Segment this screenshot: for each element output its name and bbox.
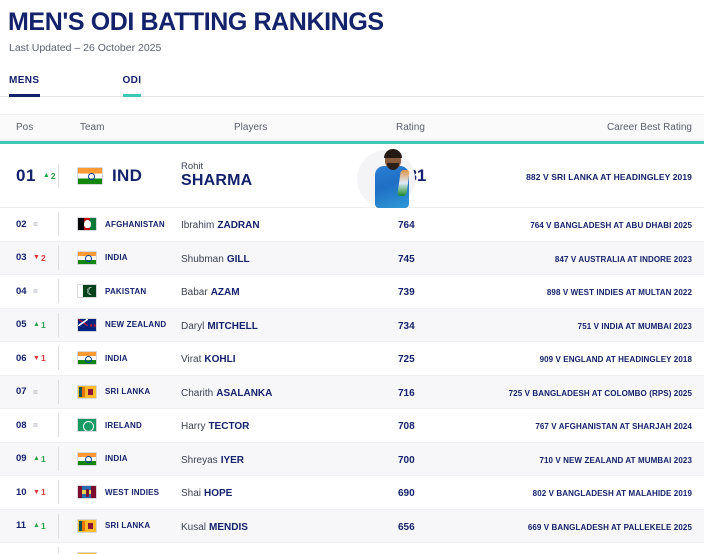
row-divider bbox=[58, 212, 59, 236]
column-header-rating: Rating bbox=[396, 122, 476, 133]
row-rating-cell: 764 bbox=[398, 215, 476, 233]
row-rating: 690 bbox=[398, 488, 415, 499]
row-pos-cell: 10▼1 bbox=[0, 487, 58, 498]
row-team-name: INDIA bbox=[105, 253, 128, 262]
row-pos: 05 bbox=[16, 319, 33, 330]
flag-srilanka-icon bbox=[77, 519, 97, 533]
row-movement: ▼1 bbox=[33, 487, 46, 497]
flag-india-icon bbox=[77, 452, 97, 466]
row-player-cell: ShaiHOPE bbox=[175, 483, 398, 501]
row-player-cell: BabarAZAM bbox=[175, 282, 398, 300]
featured-movement-value: 2 bbox=[51, 171, 56, 181]
row-team-cell: INDIA bbox=[65, 251, 175, 265]
row-pos: 02 bbox=[16, 219, 33, 230]
row-player-name: IbrahimZADRAN bbox=[181, 220, 260, 231]
arrow-up-icon: ▲ bbox=[33, 522, 40, 529]
column-header-team: Team bbox=[80, 122, 234, 133]
row-team-cell: PAKISTAN bbox=[65, 284, 175, 298]
table-row[interactable]: 03▼2INDIAShubmanGILL745847 V AUSTRALIA A… bbox=[0, 242, 704, 276]
table-body: 02=AFGHANISTANIbrahimZADRAN764764 V BANG… bbox=[0, 208, 704, 554]
row-player-cell: CharithASALANKA bbox=[175, 383, 398, 401]
row-divider bbox=[58, 380, 59, 404]
row-player-name: KusalMENDIS bbox=[181, 522, 248, 533]
row-career-best-cell: 669 V BANGLADESH AT PALLEKELE 2025 bbox=[476, 517, 704, 535]
row-career-best-cell: 767 V AFGHANISTAN AT SHARJAH 2024 bbox=[476, 416, 704, 434]
row-movement: ▼2 bbox=[33, 253, 46, 263]
row-rating: 725 bbox=[398, 354, 415, 365]
arrow-up-icon: ▲ bbox=[33, 455, 40, 462]
row-team-cell: INDIA bbox=[65, 351, 175, 365]
row-team-name: PAKISTAN bbox=[105, 287, 146, 296]
featured-team-cell: IND bbox=[65, 166, 175, 186]
row-rating: 716 bbox=[398, 388, 415, 399]
row-movement: ▼1 bbox=[33, 353, 46, 363]
row-career-best: 909 V ENGLAND AT HEADINGLEY 2018 bbox=[540, 355, 692, 364]
row-movement-value: 1 bbox=[41, 487, 46, 497]
row-rating-cell: 700 bbox=[398, 450, 476, 468]
row-team-name: AFGHANISTAN bbox=[105, 220, 165, 229]
row-pos: 07 bbox=[16, 386, 33, 397]
row-team-name: WEST INDIES bbox=[105, 488, 159, 497]
row-pos: 09 bbox=[16, 453, 33, 464]
row-rating: 745 bbox=[398, 254, 415, 265]
table-row[interactable]: 09▲1INDIAShreyasIYER700710 V NEW ZEALAND… bbox=[0, 443, 704, 477]
row-rating-cell: 654 bbox=[398, 550, 476, 554]
flag-westindies-icon bbox=[77, 485, 97, 499]
row-movement: ▲1 bbox=[33, 454, 46, 464]
row-rating-cell: 725 bbox=[398, 349, 476, 367]
row-movement: = bbox=[33, 286, 38, 296]
row-rating-cell: 656 bbox=[398, 517, 476, 535]
row-career-best-cell: 751 V INDIA AT MUMBAI 2023 bbox=[476, 316, 704, 334]
row-pos-cell: 02= bbox=[0, 219, 58, 230]
row-player-cell: PathumNISSANKA bbox=[175, 550, 398, 554]
row-career-best-cell: 728 V BANGLADESH AT CHITTAGONG 2024 bbox=[476, 550, 704, 554]
row-pos: 11 bbox=[16, 520, 33, 531]
row-team-cell: INDIA bbox=[65, 452, 175, 466]
rankings-table: Pos Team Players Rating Career Best Rati… bbox=[0, 114, 704, 554]
row-career-best: 710 V NEW ZEALAND AT MUMBAI 2023 bbox=[539, 456, 692, 465]
row-career-best: 764 V BANGLADESH AT ABU DHABI 2025 bbox=[530, 221, 692, 230]
row-rating-cell: 690 bbox=[398, 483, 476, 501]
row-career-best: 847 V AUSTRALIA AT INDORE 2023 bbox=[555, 255, 692, 264]
flag-srilanka-icon bbox=[77, 385, 97, 399]
row-player-name: ShubmanGILL bbox=[181, 254, 250, 265]
flag-newzealand-icon bbox=[77, 318, 97, 332]
table-header-row: Pos Team Players Rating Career Best Rati… bbox=[0, 114, 704, 141]
table-row[interactable]: 04=PAKISTANBabarAZAM739898 V WEST INDIES… bbox=[0, 275, 704, 309]
row-pos-cell: 06▼1 bbox=[0, 353, 58, 364]
row-divider bbox=[58, 480, 59, 504]
flag-pakistan-icon bbox=[77, 284, 97, 298]
row-movement: ▲1 bbox=[33, 320, 46, 330]
row-career-best-cell: 898 V WEST INDIES AT MULTAN 2022 bbox=[476, 282, 704, 300]
row-pos-cell: 09▲1 bbox=[0, 453, 58, 464]
row-pos-cell: 04= bbox=[0, 286, 58, 297]
row-movement: = bbox=[33, 387, 38, 397]
row-pos-cell: 08= bbox=[0, 420, 58, 431]
tab-bar: MENS ODI bbox=[0, 75, 704, 97]
row-pos-cell: 07= bbox=[0, 386, 58, 397]
row-player-cell: KusalMENDIS bbox=[175, 517, 398, 535]
row-career-best-cell: 710 V NEW ZEALAND AT MUMBAI 2023 bbox=[476, 450, 704, 468]
row-movement: = bbox=[33, 420, 38, 430]
row-movement-value: = bbox=[33, 387, 38, 397]
photo-head bbox=[385, 151, 401, 169]
arrow-down-icon: ▼ bbox=[33, 489, 40, 496]
flag-india-icon bbox=[77, 251, 97, 265]
column-header-career-best: Career Best Rating bbox=[476, 122, 704, 133]
row-player-cell: ViratKOHLI bbox=[175, 349, 398, 367]
tab-odi-underline bbox=[123, 94, 142, 97]
row-rating-cell: 716 bbox=[398, 383, 476, 401]
photo-jersey bbox=[375, 166, 409, 208]
featured-pos: 01 bbox=[16, 166, 36, 186]
row-player-cell: DarylMITCHELL bbox=[175, 316, 398, 334]
column-header-pos: Pos bbox=[0, 122, 80, 133]
page-title: MEN'S ODI BATTING RANKINGS bbox=[0, 0, 704, 37]
row-rating-cell: 734 bbox=[398, 316, 476, 334]
row-team-cell: IRELAND bbox=[65, 418, 175, 432]
row-divider bbox=[58, 346, 59, 370]
featured-career-best-cell: 882 V SRI LANKA AT HEADINGLEY 2019 bbox=[476, 167, 704, 185]
row-rating: 739 bbox=[398, 287, 415, 298]
row-divider bbox=[58, 413, 59, 437]
row-movement-value: = bbox=[33, 286, 38, 296]
row-movement-value: = bbox=[33, 219, 38, 229]
row-team-name: IRELAND bbox=[105, 421, 142, 430]
row-pos: 03 bbox=[16, 252, 33, 263]
table-row[interactable]: 07=SRI LANKACharithASALANKA716725 V BANG… bbox=[0, 376, 704, 410]
row-movement: = bbox=[33, 219, 38, 229]
row-player-cell: HarryTECTOR bbox=[175, 416, 398, 434]
flag-afghanistan-icon bbox=[77, 217, 97, 231]
row-pos: 04 bbox=[16, 286, 33, 297]
row-rating: 708 bbox=[398, 421, 415, 432]
row-team-cell: SRI LANKA bbox=[65, 385, 175, 399]
row-pos: 06 bbox=[16, 353, 33, 364]
last-updated-text: Last Updated – 26 October 2025 bbox=[0, 37, 704, 54]
arrow-down-icon: ▼ bbox=[33, 254, 40, 261]
row-team-cell: SRI LANKA bbox=[65, 519, 175, 533]
row-player-name: BabarAZAM bbox=[181, 287, 240, 298]
tab-mens-label: MENS bbox=[9, 75, 40, 86]
row-rating-cell: 739 bbox=[398, 282, 476, 300]
row-player-name: CharithASALANKA bbox=[181, 388, 272, 399]
row-team-name: NEW ZEALAND bbox=[105, 320, 166, 329]
row-player-cell: ShreyasIYER bbox=[175, 450, 398, 468]
table-row[interactable]: 08=IRELANDHarryTECTOR708767 V AFGHANISTA… bbox=[0, 409, 704, 443]
row-team-cell: NEW ZEALAND bbox=[65, 318, 175, 332]
row-career-best: 898 V WEST INDIES AT MULTAN 2022 bbox=[547, 288, 692, 297]
row-career-best: 669 V BANGLADESH AT PALLEKELE 2025 bbox=[528, 523, 692, 532]
row-team-cell: AFGHANISTAN bbox=[65, 217, 175, 231]
player-photo bbox=[355, 144, 427, 208]
row-team-name: SRI LANKA bbox=[105, 521, 150, 530]
row-divider bbox=[58, 164, 59, 188]
row-movement-value: = bbox=[33, 420, 38, 430]
row-career-best: 767 V AFGHANISTAN AT SHARJAH 2024 bbox=[535, 422, 692, 431]
featured-career-best: 882 V SRI LANKA AT HEADINGLEY 2019 bbox=[526, 172, 692, 182]
row-player-name: ShaiHOPE bbox=[181, 488, 232, 499]
tab-mens-underline bbox=[9, 94, 40, 97]
row-player-name: ShreyasIYER bbox=[181, 455, 244, 466]
row-team-name: SRI LANKA bbox=[105, 387, 150, 396]
table-row[interactable]: 02=AFGHANISTANIbrahimZADRAN764764 V BANG… bbox=[0, 208, 704, 242]
table-row-featured[interactable]: 01 ▲2 IND Rohit SHARMA 781 882 V SRI L bbox=[0, 144, 704, 208]
table-row[interactable]: 05▲1NEW ZEALANDDarylMITCHELL734751 V IND… bbox=[0, 309, 704, 343]
row-divider bbox=[58, 246, 59, 270]
row-movement-value: 1 bbox=[41, 353, 46, 363]
row-career-best: 802 V BANGLADESH AT MALAHIDE 2019 bbox=[533, 489, 692, 498]
row-career-best: 751 V INDIA AT MUMBAI 2023 bbox=[578, 322, 692, 331]
row-career-best-cell: 764 V BANGLADESH AT ABU DHABI 2025 bbox=[476, 215, 704, 233]
flag-india-icon bbox=[77, 351, 97, 365]
featured-pos-cell: 01 ▲2 bbox=[0, 166, 58, 186]
column-header-players: Players bbox=[234, 122, 396, 133]
table-row[interactable]: 06▼1INDIAViratKOHLI725909 V ENGLAND AT H… bbox=[0, 342, 704, 376]
row-career-best-cell: 847 V AUSTRALIA AT INDORE 2023 bbox=[476, 249, 704, 267]
arrow-down-icon: ▼ bbox=[33, 355, 40, 362]
row-divider bbox=[58, 447, 59, 471]
row-rating-cell: 708 bbox=[398, 416, 476, 434]
row-movement: ▲1 bbox=[33, 521, 46, 531]
row-movement-value: 2 bbox=[41, 253, 46, 263]
rankings-page: MEN'S ODI BATTING RANKINGS Last Updated … bbox=[0, 0, 704, 554]
row-rating: 734 bbox=[398, 321, 415, 332]
row-career-best: 725 V BANGLADESH AT COLOMBO (RPS) 2025 bbox=[509, 389, 692, 398]
row-pos: 08 bbox=[16, 420, 33, 431]
row-movement-value: 1 bbox=[41, 521, 46, 531]
featured-team-abbr: IND bbox=[112, 166, 142, 186]
row-divider bbox=[58, 514, 59, 538]
row-player-name: DarylMITCHELL bbox=[181, 321, 258, 332]
row-career-best-cell: 725 V BANGLADESH AT COLOMBO (RPS) 2025 bbox=[476, 383, 704, 401]
featured-movement: ▲2 bbox=[43, 171, 56, 181]
row-pos-cell: 05▲1 bbox=[0, 319, 58, 330]
arrow-up-icon: ▲ bbox=[33, 321, 40, 328]
table-row[interactable]: 10▼1WEST INDIESShaiHOPE690802 V BANGLADE… bbox=[0, 476, 704, 510]
tab-odi[interactable]: ODI bbox=[123, 75, 142, 97]
table-row[interactable]: 12▲1SRI LANKAPathumNISSANKA654728 V BANG… bbox=[0, 543, 704, 554]
flag-india-icon bbox=[77, 167, 103, 185]
row-pos-cell: 03▼2 bbox=[0, 252, 58, 263]
tab-mens[interactable]: MENS bbox=[9, 75, 40, 97]
row-team-name: INDIA bbox=[105, 354, 128, 363]
tab-odi-label: ODI bbox=[123, 75, 142, 86]
row-career-best-cell: 909 V ENGLAND AT HEADINGLEY 2018 bbox=[476, 349, 704, 367]
row-movement-value: 1 bbox=[41, 454, 46, 464]
row-rating: 700 bbox=[398, 455, 415, 466]
row-divider bbox=[58, 279, 59, 303]
row-divider bbox=[58, 313, 59, 337]
row-team-name: INDIA bbox=[105, 454, 128, 463]
row-divider bbox=[58, 547, 59, 554]
row-rating-cell: 745 bbox=[398, 249, 476, 267]
row-player-cell: IbrahimZADRAN bbox=[175, 215, 398, 233]
row-career-best-cell: 802 V BANGLADESH AT MALAHIDE 2019 bbox=[476, 483, 704, 501]
row-team-cell: WEST INDIES bbox=[65, 485, 175, 499]
row-rating: 656 bbox=[398, 522, 415, 533]
row-player-cell: ShubmanGILL bbox=[175, 249, 398, 267]
arrow-up-icon: ▲ bbox=[43, 172, 50, 179]
row-player-name: ViratKOHLI bbox=[181, 354, 236, 365]
row-rating: 764 bbox=[398, 220, 415, 231]
row-pos: 10 bbox=[16, 487, 33, 498]
row-movement-value: 1 bbox=[41, 320, 46, 330]
flag-ireland-icon bbox=[77, 418, 97, 432]
table-row[interactable]: 11▲1SRI LANKAKusalMENDIS656669 V BANGLAD… bbox=[0, 510, 704, 544]
row-player-name: HarryTECTOR bbox=[181, 421, 249, 432]
row-pos-cell: 11▲1 bbox=[0, 520, 58, 531]
